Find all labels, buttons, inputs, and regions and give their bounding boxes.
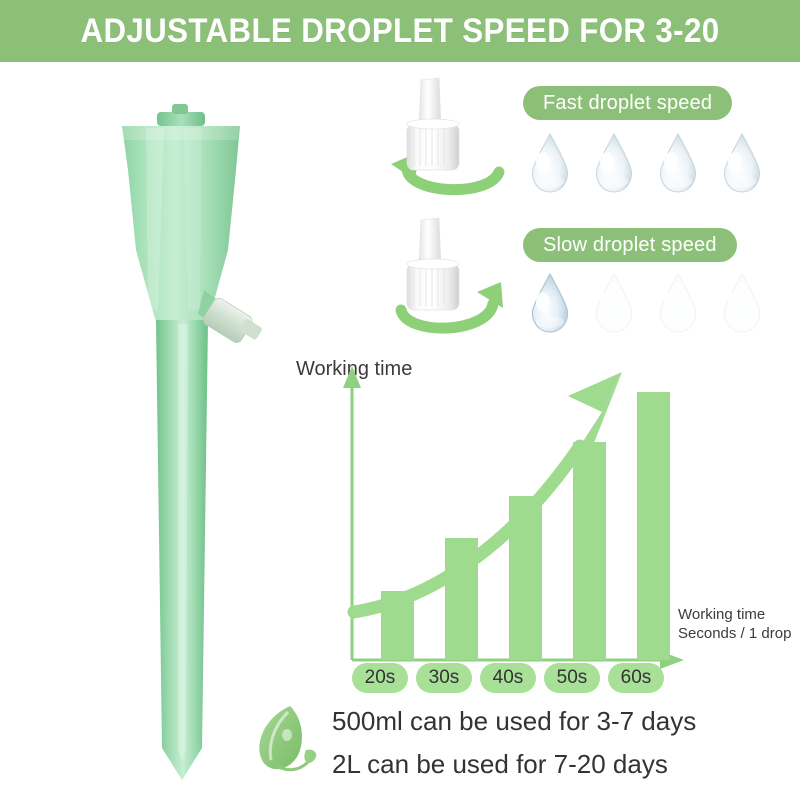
working-time-bar-chart [280, 350, 700, 700]
nozzle-illustration-slow [385, 212, 525, 344]
product-image-watering-spike [60, 100, 290, 780]
droplet-icon-faded [589, 272, 639, 334]
slow-droplet-row [525, 272, 767, 334]
footer-line-2: 2L can be used for 7-20 days [332, 743, 792, 786]
droplet-icon [589, 132, 639, 194]
chart-bar-40s [509, 496, 542, 660]
chart-tick-0: 20s [352, 663, 408, 693]
droplet-icon [653, 132, 703, 194]
chart-bar-30s [445, 538, 478, 660]
nozzle-cap [407, 124, 459, 170]
leaf-icon [250, 702, 324, 782]
chart-x-axis-title: Working time Seconds / 1 drop [678, 605, 791, 643]
footer-usage-info: 500ml can be used for 3-7 days 2L can be… [250, 700, 790, 790]
nozzle-fast-svg [385, 72, 525, 204]
nozzle-cap-top [407, 259, 459, 269]
page-title: ADJUSTABLE DROPLET SPEED FOR 3-20 [32, 0, 768, 62]
product-funnel [122, 126, 240, 322]
product-top-cap [157, 112, 205, 126]
slow-droplet-speed-label: Slow droplet speed [523, 228, 737, 262]
chart-x-axis-title-line2: Seconds / 1 drop [678, 624, 791, 643]
chart-bar-60s [637, 392, 670, 660]
footer-line-1: 500ml can be used for 3-7 days [332, 700, 792, 743]
chart-x-axis-title-line1: Working time [678, 605, 791, 624]
chart-tick-2: 40s [480, 663, 536, 693]
droplet-icon [525, 272, 575, 334]
fast-droplet-row [525, 132, 767, 194]
chart-bar-20s [381, 591, 414, 660]
nozzle-slow-svg [385, 212, 525, 344]
nozzle-cap-top [407, 119, 459, 129]
nozzle-cap [407, 264, 459, 310]
chart-tick-1: 30s [416, 663, 472, 693]
chart-bars [381, 392, 670, 660]
chart-x-tick-labels: 20s 30s 40s 50s 60s [352, 663, 700, 695]
chart-tick-3: 50s [544, 663, 600, 693]
chart-bar-50s [573, 442, 606, 660]
product-top-nub [172, 104, 188, 114]
droplet-icon-faded [653, 272, 703, 334]
droplet-icon [717, 132, 767, 194]
droplet-icon-faded [717, 272, 767, 334]
fast-droplet-speed-label: Fast droplet speed [523, 86, 732, 120]
droplet-icon [525, 132, 575, 194]
footer-text-lines: 500ml can be used for 3-7 days 2L can be… [332, 700, 792, 786]
funnel-rim-highlight [122, 126, 240, 140]
product-illustration [60, 100, 290, 780]
chart-svg [280, 350, 700, 700]
chart-tick-4: 60s [608, 663, 664, 693]
nozzle-illustration-fast [385, 72, 525, 204]
